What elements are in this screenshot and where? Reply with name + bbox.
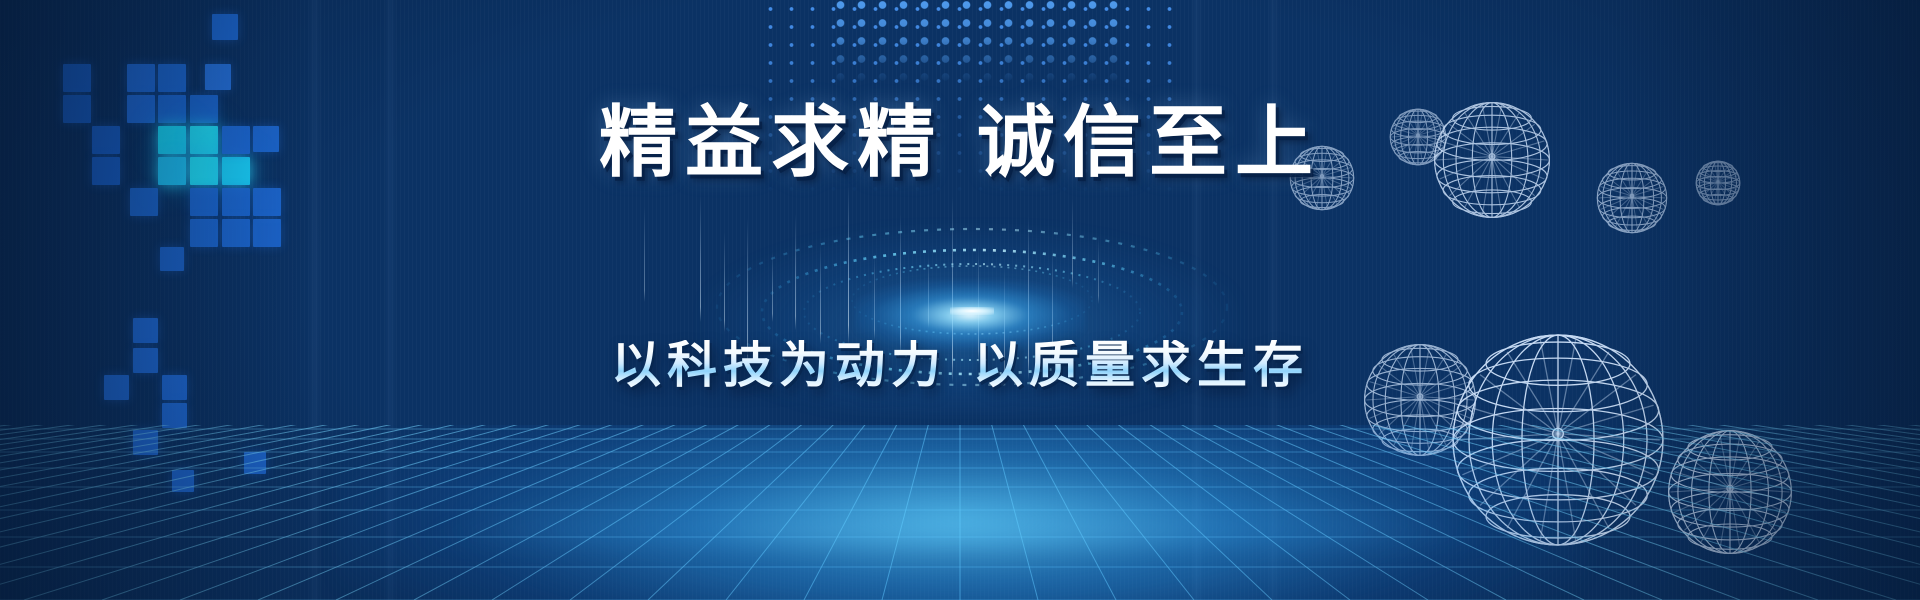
- subtitle-part-2: 以质量求生存: [973, 337, 1309, 393]
- mosaic-pixel: [212, 14, 238, 40]
- subtitle-part-1: 以科技为动力: [611, 337, 947, 393]
- data-streak: [772, 252, 773, 322]
- data-streak: [700, 196, 701, 322]
- title-part-2: 诚信至上: [977, 99, 1321, 186]
- mosaic-pixel: [127, 64, 155, 92]
- halftone-dot-matrix-dense-icon: [830, 0, 1120, 83]
- data-streak: [795, 214, 796, 330]
- mosaic-pixel: [130, 188, 158, 216]
- title-part-1: 精益求精: [599, 99, 943, 186]
- subtitle-text: 以科技为动力以质量求生存: [611, 340, 1309, 390]
- mosaic-pixel: [158, 64, 186, 92]
- data-streak: [820, 246, 821, 344]
- data-streak: [900, 214, 901, 354]
- data-streak: [848, 186, 849, 344]
- title-text: 精益求精诚信至上: [599, 104, 1321, 182]
- data-streak: [1098, 236, 1099, 304]
- tech-banner: 精益求精诚信至上 以科技为动力以质量求生存: [0, 0, 1920, 600]
- mosaic-pixel: [253, 219, 281, 247]
- mosaic-pixel: [160, 247, 184, 271]
- mosaic-pixel: [205, 64, 231, 90]
- data-streak: [1072, 198, 1073, 288]
- data-streak: [874, 252, 875, 340]
- data-streak: [644, 206, 645, 302]
- mosaic-pixel: [253, 188, 281, 216]
- data-streak: [724, 232, 725, 332]
- mosaic-pixel: [190, 188, 218, 216]
- mosaic-pixel: [63, 64, 91, 92]
- mosaic-pixel: [190, 219, 218, 247]
- page-title: 精益求精诚信至上: [0, 104, 1920, 182]
- data-streak: [928, 258, 929, 328]
- mosaic-pixel: [222, 219, 250, 247]
- floor-glow: [335, 425, 1585, 600]
- page-subtitle: 以科技为动力以质量求生存: [0, 340, 1920, 390]
- perspective-grid-floor: [0, 425, 1920, 600]
- mosaic-pixel: [222, 188, 250, 216]
- core-hotspot: [950, 307, 994, 315]
